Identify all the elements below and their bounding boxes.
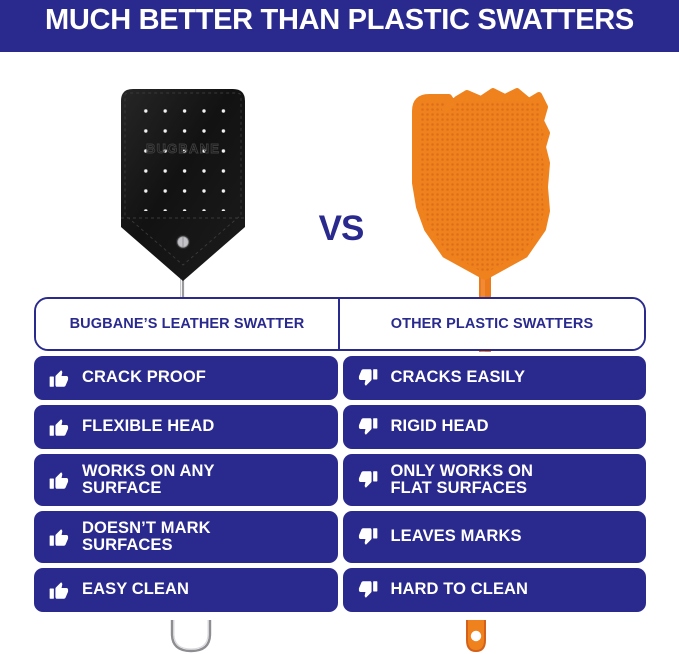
feature-label: CRACKS EASILY [391,369,526,386]
thumbs-down-icon [357,526,379,548]
feature-label: WORKS ON ANY SURFACE [82,463,215,498]
plastic-hang-hole-icon [463,620,489,654]
feature-label: DOESN’T MARK SURFACES [82,520,211,555]
feature-cell-plastic: CRACKS EASILY [343,356,647,400]
thumbs-down-icon [357,579,379,601]
thumbs-down-icon [357,416,379,438]
feature-label: EASY CLEAN [82,581,189,598]
versus-label: VS [296,209,386,249]
thumbs-down-icon [357,469,379,491]
feature-label: FLEXIBLE HEAD [82,418,214,435]
page-title: MUCH BETTER THAN PLASTIC SWATTERS [0,0,679,40]
feature-label: HARD TO CLEAN [391,581,529,598]
svg-text:BUGBANE: BUGBANE [146,141,220,156]
table-row: FLEXIBLE HEAD RIGID HEAD [34,405,646,449]
table-row: WORKS ON ANY SURFACE ONLY WORKS ON FLAT … [34,454,646,506]
thumbs-down-icon [357,367,379,389]
wire-loop-icon [164,620,218,654]
thumbs-up-icon [48,526,70,548]
column-header-plastic: OTHER PLASTIC SWATTERS [340,299,644,349]
comparison-table: BUGBANE’S LEATHER SWATTER OTHER PLASTIC … [34,297,646,612]
feature-cell-plastic: RIGID HEAD [343,405,647,449]
infographic-canvas: MUCH BETTER THAN PLASTIC SWATTERS [0,0,679,654]
leather-swatter-handle-loop [164,620,218,654]
column-header-leather: BUGBANE’S LEATHER SWATTER [36,299,340,349]
feature-cell-plastic: HARD TO CLEAN [343,568,647,612]
product-comparison-images: BUGBANE VS [0,52,679,302]
table-row: EASY CLEAN HARD TO CLEAN [34,568,646,612]
thumbs-up-icon [48,367,70,389]
feature-label: RIGID HEAD [391,418,489,435]
feature-cell-leather: WORKS ON ANY SURFACE [34,454,338,506]
header-banner: MUCH BETTER THAN PLASTIC SWATTERS [0,0,679,52]
feature-cell-leather: EASY CLEAN [34,568,338,612]
thumbs-up-icon [48,416,70,438]
feature-cell-plastic: LEAVES MARKS [343,511,647,563]
thumbs-up-icon [48,469,70,491]
feature-cell-leather: DOESN’T MARK SURFACES [34,511,338,563]
feature-label: LEAVES MARKS [391,528,522,545]
plastic-swatter-handle-end [463,620,489,654]
feature-label: CRACK PROOF [82,369,206,386]
feature-cell-leather: CRACK PROOF [34,356,338,400]
thumbs-up-icon [48,579,70,601]
feature-cell-plastic: ONLY WORKS ON FLAT SURFACES [343,454,647,506]
table-row: CRACK PROOF CRACKS EASILY [34,356,646,400]
feature-cell-leather: FLEXIBLE HEAD [34,405,338,449]
feature-label: ONLY WORKS ON FLAT SURFACES [391,463,534,498]
table-header-row: BUGBANE’S LEATHER SWATTER OTHER PLASTIC … [34,297,646,351]
table-row: DOESN’T MARK SURFACES LEAVES MARKS [34,511,646,563]
